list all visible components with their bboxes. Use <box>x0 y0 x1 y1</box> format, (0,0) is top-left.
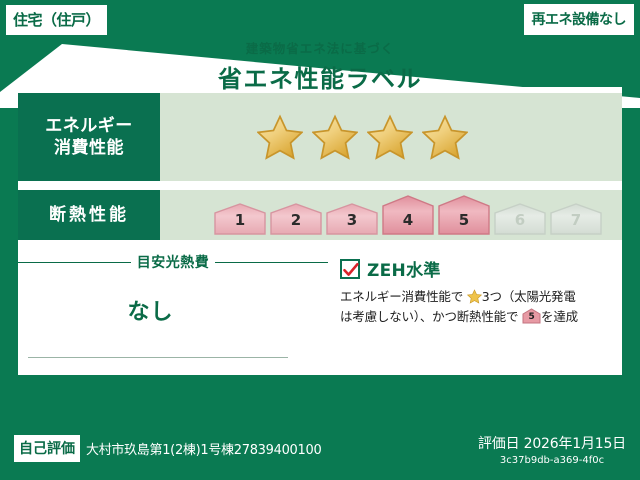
energy-label-line2: 消費性能 <box>54 137 124 159</box>
energy-performance-label: エネルギー 消費性能 <box>18 93 160 181</box>
utility-cost-value: なし <box>18 294 328 326</box>
insulation-performance-value: 1234567 <box>160 190 622 240</box>
insulation-level-6: 6 <box>493 203 547 235</box>
insulation-level-value: 5 <box>437 211 491 229</box>
check-icon <box>343 262 359 278</box>
utility-cost-block: 目安光熱費 なし <box>18 246 328 364</box>
heading-rule-left <box>18 262 131 263</box>
title-subtitle: 建築物省エネ法に基づく <box>0 38 640 57</box>
zeh-desc-part1: エネルギー消費性能で <box>340 289 463 304</box>
footer-right: 評価日 2026年1月15日 3c37b9db-a369-4f0c <box>478 433 626 466</box>
zeh-desc-part4: を達成 <box>541 309 578 324</box>
insulation-scale: 1234567 <box>213 195 605 235</box>
property-address: 大村市玖島第1(2棟)1号棟27839400100 <box>86 439 321 458</box>
insulation-level-1: 1 <box>213 203 267 235</box>
energy-label-root: 住宅（住戸） 再エネ設備なし 建築物省エネ法に基づく 省エネ性能ラベル エネルギ… <box>0 0 640 480</box>
star-icon <box>422 114 468 160</box>
house-badge-icon: 5 <box>522 308 541 324</box>
star-icon <box>257 114 303 160</box>
zeh-title: ZEH水準 <box>367 256 441 281</box>
title-main: 省エネ性能ラベル <box>0 59 640 94</box>
zeh-desc-part2: 3つ（太陽光発電 <box>482 289 576 304</box>
star-icon <box>367 114 413 160</box>
insulation-level-5: 5 <box>437 195 491 235</box>
heading-rule-right <box>215 262 328 263</box>
renewable-energy-tag: 再エネ設備なし <box>524 4 635 35</box>
insulation-performance-row: 断熱性能 1234567 <box>18 190 622 240</box>
insulation-level-value: 4 <box>381 211 435 229</box>
house-badge-value: 5 <box>522 310 541 325</box>
main-panel: エネルギー 消費性能 断熱性能 1234567 目安光熱費 <box>18 87 622 375</box>
insulation-level-value: 3 <box>325 211 379 229</box>
insulation-level-4: 4 <box>381 195 435 235</box>
evaluation-type-badge: 自己評価 <box>14 435 80 462</box>
star-icon <box>312 114 358 160</box>
zeh-description: エネルギー消費性能で 3つ（太陽光発電 は考慮しない）、かつ断熱性能で 5 を達… <box>340 287 618 328</box>
insulation-level-value: 1 <box>213 211 267 229</box>
zeh-checkbox[interactable] <box>340 259 360 279</box>
bottom-divider-rule <box>28 357 288 358</box>
insulation-level-value: 2 <box>269 211 323 229</box>
utility-cost-heading: 目安光熱費 <box>18 252 328 272</box>
energy-performance-value <box>160 93 622 181</box>
insulation-level-value: 7 <box>549 211 603 229</box>
zeh-heading: ZEH水準 <box>340 256 618 281</box>
label-footer: 自己評価 大村市玖島第1(2棟)1号棟27839400100 評価日 2026年… <box>0 375 640 480</box>
insulation-performance-label: 断熱性能 <box>18 190 160 240</box>
star-icon <box>467 289 482 304</box>
star-rating <box>257 114 468 160</box>
label-title-block: 建築物省エネ法に基づく 省エネ性能ラベル <box>0 38 640 94</box>
insulation-label-text: 断熱性能 <box>49 204 129 226</box>
panel-bottom-section: 目安光熱費 なし ZEH水準 エネルギー消費性能で <box>18 246 622 364</box>
building-type-tag: 住宅（住戸） <box>6 5 107 35</box>
energy-performance-row: エネルギー 消費性能 <box>18 93 622 181</box>
insulation-level-3: 3 <box>325 203 379 235</box>
insulation-level-2: 2 <box>269 203 323 235</box>
document-id: 3c37b9db-a369-4f0c <box>478 455 626 466</box>
zeh-desc-part3: は考慮しない）、かつ断熱性能で <box>340 309 518 324</box>
zeh-block: ZEH水準 エネルギー消費性能で 3つ（太陽光発電 は考慮しない）、かつ断熱性能… <box>328 246 622 364</box>
footer-left: 自己評価 大村市玖島第1(2棟)1号棟27839400100 <box>14 435 321 462</box>
evaluation-date: 評価日 2026年1月15日 <box>478 433 626 453</box>
energy-label-line1: エネルギー <box>45 115 133 137</box>
insulation-level-7: 7 <box>549 203 603 235</box>
insulation-level-value: 6 <box>493 211 547 229</box>
utility-cost-title: 目安光熱費 <box>137 252 210 272</box>
